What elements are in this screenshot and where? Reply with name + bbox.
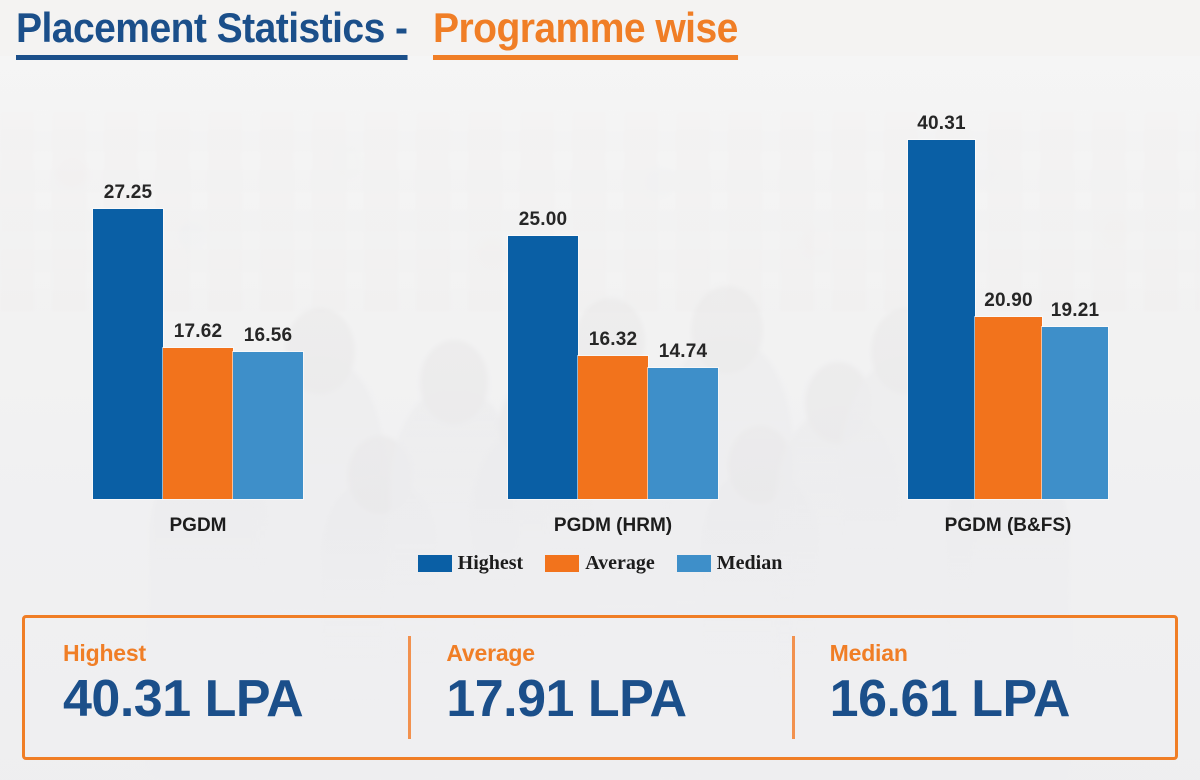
- legend-item-average[interactable]: Average: [545, 552, 655, 575]
- bar-value-label: 19.21: [1051, 300, 1100, 322]
- bar-value-label: 16.32: [589, 329, 638, 351]
- bar-group-pgdm: 27.25 17.62 16.56 PGDM: [93, 39, 303, 499]
- bar-value-label: 14.74: [659, 341, 708, 363]
- bar-group-bars: 40.31 20.90 19.21: [908, 39, 1108, 499]
- page-title: Placement Statistics - Programme wise: [16, 4, 761, 60]
- legend-label: Highest: [458, 552, 524, 575]
- bar-value-label: 27.25: [104, 182, 153, 204]
- chart-legend: Highest Average Median: [0, 552, 1200, 575]
- bar-average[interactable]: 20.90: [975, 317, 1042, 499]
- bar-group-bars: 27.25 17.62 16.56: [93, 39, 303, 499]
- legend-swatch-median: [677, 555, 711, 572]
- bar-value-label: 25.00: [519, 209, 568, 231]
- summary-cell-average: Average 17.91 LPA: [408, 618, 791, 757]
- bar-group-pgdm-bfs: 40.31 20.90 19.21 PGDM (B&FS): [908, 39, 1108, 499]
- bar-average[interactable]: 17.62: [163, 348, 233, 499]
- legend-item-median[interactable]: Median: [677, 552, 783, 575]
- bar-group-pgdm-hrm: 25.00 16.32 14.74 PGDM (HRM): [508, 39, 718, 499]
- slide: Placement Statistics - Programme wise 27…: [0, 0, 1200, 780]
- summary-box: Highest 40.31 LPA Average 17.91 LPA Medi…: [22, 615, 1178, 760]
- summary-value: 16.61 LPA: [830, 669, 1175, 729]
- summary-label: Average: [446, 640, 791, 667]
- summary-label: Median: [830, 640, 1175, 667]
- bar-median[interactable]: 16.56: [233, 352, 303, 499]
- bar-value-label: 20.90: [984, 290, 1033, 312]
- bar-chart: 27.25 17.62 16.56 PGDM 25.00 16.32: [0, 0, 1200, 540]
- legend-swatch-average: [545, 555, 579, 572]
- legend-item-highest[interactable]: Highest: [418, 552, 524, 575]
- bar-median[interactable]: 19.21: [1042, 327, 1108, 499]
- bar-value-label: 16.56: [244, 325, 293, 347]
- bar-group-label: PGDM: [93, 515, 303, 537]
- legend-label: Median: [717, 552, 783, 575]
- bar-value-label: 17.62: [174, 321, 223, 343]
- bottom-caption-clipped: [0, 769, 1200, 780]
- summary-cell-highest: Highest 40.31 LPA: [25, 618, 408, 757]
- bar-group-label: PGDM (B&FS): [908, 515, 1108, 537]
- bar-group-bars: 25.00 16.32 14.74: [508, 39, 718, 499]
- bar-highest[interactable]: 40.31: [908, 140, 975, 499]
- summary-value: 17.91 LPA: [446, 669, 791, 729]
- page-title-main: Placement Statistics -: [16, 4, 408, 60]
- bar-highest[interactable]: 25.00: [508, 236, 578, 499]
- bar-median[interactable]: 14.74: [648, 368, 718, 499]
- bar-group-label: PGDM (HRM): [508, 515, 718, 537]
- bar-highest[interactable]: 27.25: [93, 209, 163, 499]
- summary-cell-median: Median 16.61 LPA: [792, 618, 1175, 757]
- bar-value-label: 40.31: [917, 113, 966, 135]
- summary-label: Highest: [63, 640, 408, 667]
- summary-value: 40.31 LPA: [63, 669, 408, 729]
- page-title-accent: Programme wise: [433, 4, 738, 60]
- bar-average[interactable]: 16.32: [578, 356, 648, 499]
- legend-label: Average: [585, 552, 655, 575]
- legend-swatch-highest: [418, 555, 452, 572]
